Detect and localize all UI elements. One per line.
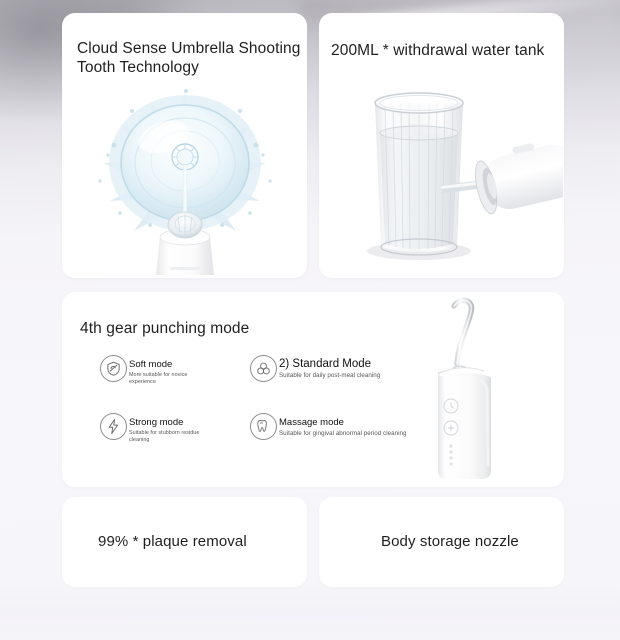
mode-list: Soft mode More suitable for novice exper… [100,354,430,464]
feature-row-modes: 4th gear punching mode Soft mode More su… [62,292,564,487]
lightning-bolt-icon [100,413,127,440]
mode-name-standard: 2) Standard Mode [279,358,371,370]
mode-name-soft: Soft mode [129,359,172,370]
mode-desc-soft: More suitable for novice experience [129,372,211,385]
mode-item-soft[interactable]: Soft mode More suitable for novice exper… [100,354,250,406]
mode-item-strong[interactable]: Strong mode Suitable for stubborn residu… [100,412,250,464]
card-umbrella-title: Cloud Sense Umbrella Shooting Tooth Tech… [77,39,300,77]
card-plaque-removal[interactable]: 99% * plaque removal [62,497,307,587]
modes-title: 4th gear punching mode [80,320,249,338]
mode-item-massage[interactable]: Massage mode Suitable for gingival abnor… [250,412,430,464]
product-detail-page: Cloud Sense Umbrella Shooting Tooth Tech… [0,0,620,640]
feature-row-bottom: 99% * plaque removal Body storage nozzle [62,497,564,587]
storage-nozzle-label: Body storage nozzle [381,533,519,550]
mode-desc-massage: Suitable for gingival abnormal period cl… [279,430,407,438]
card-water-tank[interactable]: 200ML * withdrawal water tank [319,13,564,278]
mode-item-standard[interactable]: 2) Standard Mode Suitable for daily post… [250,354,430,406]
water-tank-glass-photo [333,75,563,275]
card-punching-modes[interactable]: 4th gear punching mode Soft mode More su… [62,292,564,487]
water-flosser-device-photo [420,294,530,486]
plaque-removal-label: 99% * plaque removal [98,533,247,550]
card-tank-title: 200ML * withdrawal water tank [331,41,544,60]
card-storage-nozzle[interactable]: Body storage nozzle [319,497,564,587]
standard-bubbles-icon [250,355,277,382]
feature-row-top: Cloud Sense Umbrella Shooting Tooth Tech… [62,13,564,278]
card-umbrella-technology[interactable]: Cloud Sense Umbrella Shooting Tooth Tech… [62,13,307,278]
mode-name-strong: Strong mode [129,417,183,428]
mode-desc-strong: Suitable for stubborn residue cleaning [129,430,211,443]
tooth-icon [250,413,277,440]
background-bottom-fade [0,580,620,640]
water-splash-umbrella-photo [90,85,280,275]
soft-shield-icon [100,355,127,382]
mode-desc-standard: Suitable for daily post-meal cleaning [279,372,380,380]
mode-name-massage: Massage mode [279,417,344,428]
